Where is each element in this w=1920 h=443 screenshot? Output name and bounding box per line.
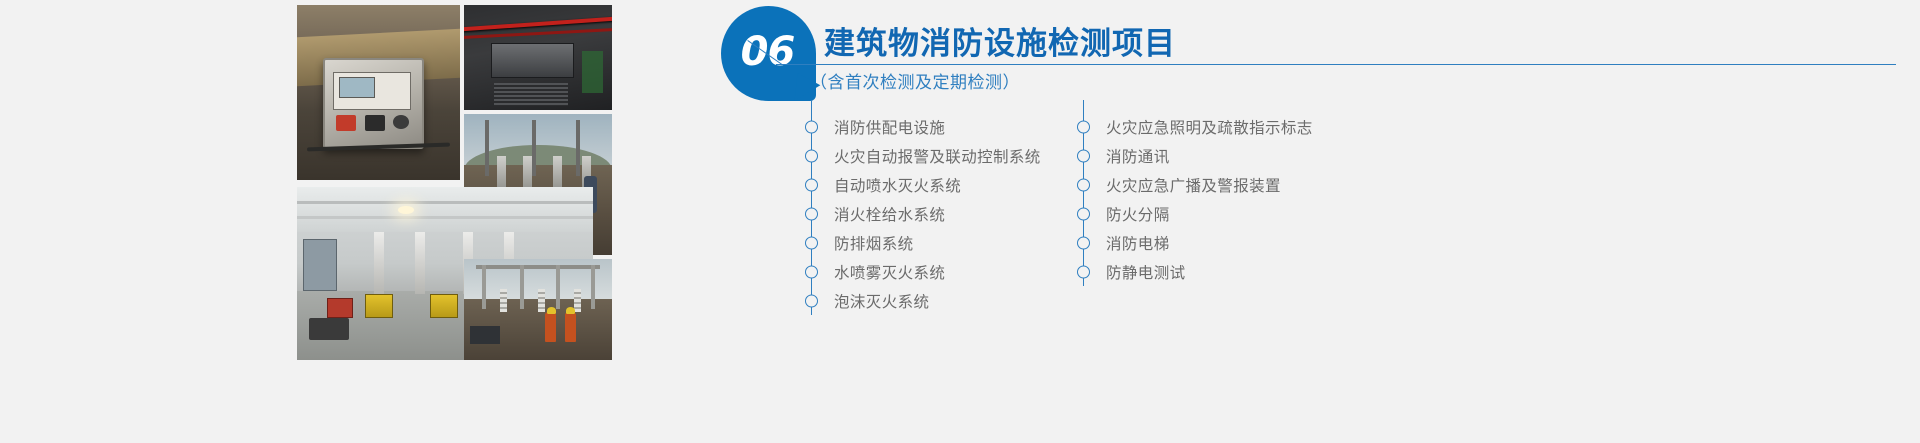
photo-ceiling-beam-shape	[297, 216, 593, 219]
photo-gantry-leg-shape	[556, 265, 560, 309]
list-item-label: 水喷雾灭火系统	[834, 261, 945, 283]
photo-truck-shape	[470, 326, 500, 344]
bullet-circle-icon	[805, 265, 818, 278]
bullet-circle-icon	[1077, 265, 1090, 278]
bullet-circle-icon	[805, 236, 818, 249]
list-item-label: 消防供配电设施	[834, 116, 945, 138]
photo-hard-hat-shape	[566, 307, 575, 314]
photo-insulator-shape	[500, 289, 507, 311]
photo-door-shape	[303, 239, 337, 291]
photo-equipment-red-cables	[464, 5, 612, 110]
photo-gantry-leg-shape	[520, 265, 524, 309]
bullet-circle-icon	[1077, 178, 1090, 191]
list-item-label: 自动喷水灭火系统	[834, 174, 961, 196]
list-item[interactable]: 防静电测试	[1068, 257, 1313, 286]
bullet-circle-icon	[1077, 120, 1090, 133]
list-item-label: 防静电测试	[1106, 261, 1186, 283]
list-item-label: 防火分隔	[1106, 203, 1170, 225]
list-item[interactable]: 火灾自动报警及联动控制系统	[796, 141, 1041, 170]
list-item[interactable]: 消防供配电设施	[796, 112, 1041, 141]
photo-pylon-shape	[576, 120, 580, 176]
photo-black-knob-shape	[365, 115, 385, 131]
section-number: 06	[741, 29, 795, 75]
photo-field-substation-workers	[464, 259, 612, 360]
list-item-label: 消火栓给水系统	[834, 203, 945, 225]
photo-display-screen-shape	[339, 77, 375, 98]
photo-worker-shape	[565, 312, 576, 342]
list-item[interactable]: 水喷雾灭火系统	[796, 257, 1041, 286]
photo-ceiling-beam-shape	[297, 201, 593, 204]
photo-hard-hat-shape	[547, 307, 556, 314]
photo-insulator-column-shape	[374, 232, 384, 294]
list-item[interactable]: 火灾应急照明及疏散指示标志	[1068, 112, 1313, 141]
photo-gantry-leg-shape	[591, 265, 595, 309]
bullet-circle-icon	[1077, 149, 1090, 162]
photo-yellow-equipment-shape	[430, 294, 458, 318]
photo-insulator-shape	[538, 289, 545, 311]
photo-pylon-shape	[485, 120, 489, 176]
bullet-circle-icon	[805, 178, 818, 191]
photo-pylon-shape	[532, 120, 536, 176]
checklist-items-left: 消防供配电设施 火灾自动报警及联动控制系统 自动喷水灭火系统 消火栓给水系统	[796, 100, 1041, 315]
list-item-label: 消防电梯	[1106, 232, 1170, 254]
photo-gallery	[297, 5, 612, 360]
bullet-circle-icon	[805, 149, 818, 162]
list-item-label: 火灾应急照明及疏散指示标志	[1106, 116, 1313, 138]
section-subtitle: （含首次检测及定期检测）	[810, 68, 1020, 93]
photo-red-knob-shape	[336, 115, 356, 131]
photo-insulator-column-shape	[415, 232, 425, 294]
bullet-circle-icon	[805, 294, 818, 307]
bullet-circle-icon	[805, 120, 818, 133]
bullet-circle-icon	[805, 207, 818, 220]
photo-gantry-leg-shape	[482, 265, 486, 309]
list-item[interactable]: 火灾应急广播及警报装置	[1068, 170, 1313, 199]
bullet-circle-icon	[1077, 236, 1090, 249]
list-item[interactable]: 消防通讯	[1068, 141, 1313, 170]
section-content: 06 建筑物消防设施检测项目 （含首次检测及定期检测） 消防供配电设施 火灾自动…	[700, 0, 1920, 443]
bullet-circle-icon	[1077, 207, 1090, 220]
list-item[interactable]: 泡沫灭火系统	[796, 286, 1041, 315]
photo-backdrop	[464, 259, 612, 360]
list-item[interactable]: 消火栓给水系统	[796, 199, 1041, 228]
list-item-label: 泡沫灭火系统	[834, 290, 929, 312]
photo-ceiling-layer	[297, 187, 593, 232]
checklist-column-right: 火灾应急照明及疏散指示标志 消防通讯 火灾应急广播及警报装置 防火分隔	[1068, 100, 1313, 286]
photo-equipment-box-shape	[491, 43, 574, 79]
checklist-items-right: 火灾应急照明及疏散指示标志 消防通讯 火灾应急广播及警报装置 防火分隔	[1068, 100, 1313, 286]
list-item-label: 防排烟系统	[834, 232, 914, 254]
list-item-label: 火灾应急广播及警报装置	[1106, 174, 1281, 196]
photo-green-panel-shape	[582, 51, 603, 93]
photo-grill-shape	[494, 83, 568, 106]
checklist-column-left: 消防供配电设施 火灾自动报警及联动控制系统 自动喷水灭火系统 消火栓给水系统	[796, 100, 1041, 315]
photo-gantry-beam-shape	[476, 265, 600, 269]
photo-test-instrument-case	[297, 5, 460, 180]
list-item-label: 火灾自动报警及联动控制系统	[834, 145, 1041, 167]
photo-equipment-cart-shape	[309, 318, 349, 340]
title-rule	[776, 64, 1896, 65]
list-item[interactable]: 自动喷水灭火系统	[796, 170, 1041, 199]
photo-red-equipment-shape	[327, 298, 353, 318]
section-title: 建筑物消防设施检测项目	[824, 18, 1176, 63]
list-item[interactable]: 消防电梯	[1068, 228, 1313, 257]
photo-backdrop	[464, 5, 612, 110]
photo-yellow-equipment-shape	[365, 294, 393, 318]
list-item-label: 消防通讯	[1106, 145, 1170, 167]
photo-worker-shape	[545, 312, 556, 342]
page-root: 06 建筑物消防设施检测项目 （含首次检测及定期检测） 消防供配电设施 火灾自动…	[0, 0, 1920, 443]
photo-ceiling-lamp-shape	[398, 206, 414, 214]
list-item[interactable]: 防火分隔	[1068, 199, 1313, 228]
list-item[interactable]: 防排烟系统	[796, 228, 1041, 257]
photo-backdrop	[297, 5, 460, 180]
